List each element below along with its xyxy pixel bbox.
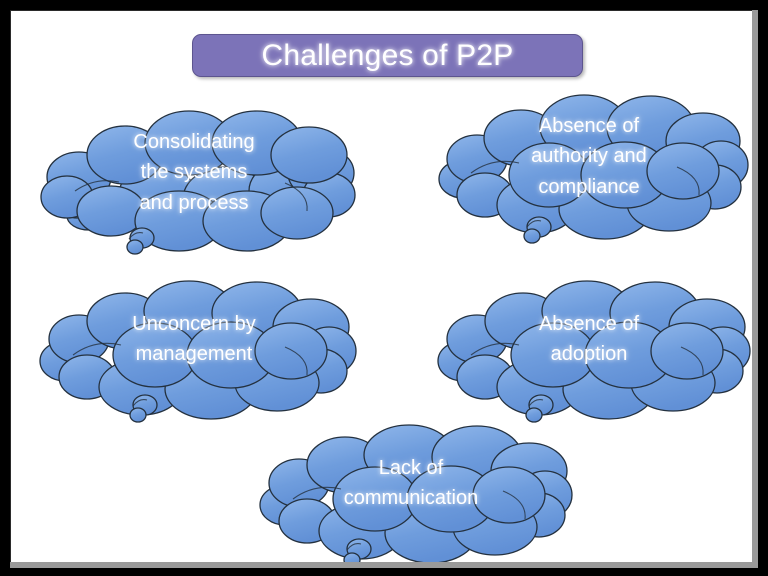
thought-cloud-unconcern[interactable]: Unconcern by management (29, 279, 359, 429)
slide-canvas: Challenges of P2P (10, 10, 752, 562)
cloud-shape-icon (29, 99, 359, 259)
thought-cloud-consolidating[interactable]: Consolidating the systems and process (29, 99, 359, 259)
cloud-shape-icon (251, 423, 571, 562)
thought-cloud-absence-authority[interactable]: Absence of authority and compliance (429, 83, 749, 243)
thought-cloud-absence-adoption[interactable]: Absence of adoption (429, 279, 749, 429)
slide-frame: Challenges of P2P (0, 0, 768, 576)
cloud-shape-icon (429, 83, 749, 243)
page-title: Challenges of P2P (262, 41, 514, 71)
cloud-shape-icon (29, 279, 359, 429)
thought-cloud-lack-communication[interactable]: Lack of communication (251, 423, 571, 562)
slide-title-plaque: Challenges of P2P (192, 34, 583, 77)
cloud-shape-icon (429, 279, 749, 429)
